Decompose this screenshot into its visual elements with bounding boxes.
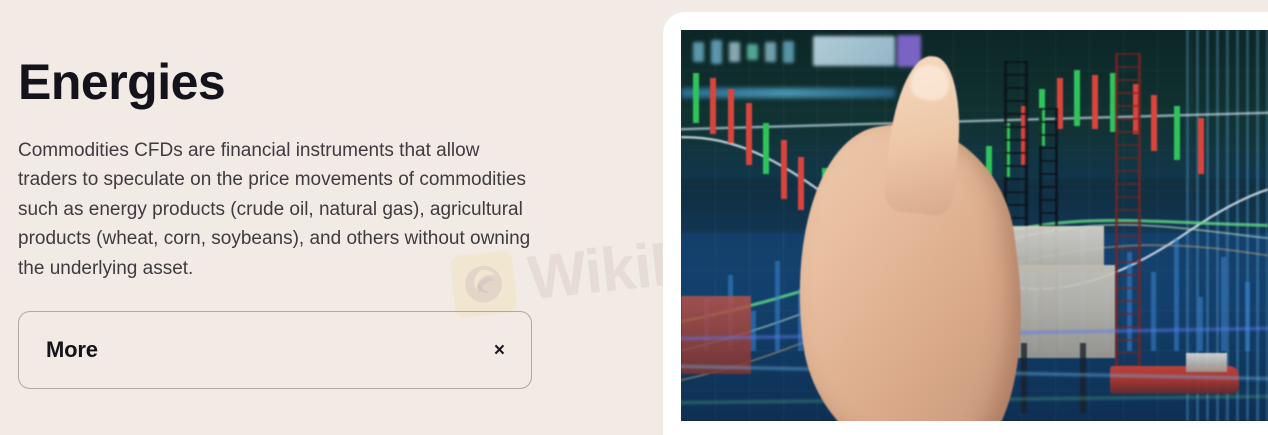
- supply-vessel-cabin: [1186, 353, 1227, 373]
- more-accordion-inner: More ×: [19, 312, 531, 388]
- photo-base: Friday, Feb 19, 2016 GC1 Open: 1,235.01 …: [681, 30, 1268, 421]
- more-accordion-label: More: [46, 337, 98, 363]
- fingernail: [909, 63, 950, 102]
- close-icon[interactable]: ×: [494, 341, 505, 360]
- media-card: Friday, Feb 19, 2016 GC1 Open: 1,235.01 …: [663, 12, 1268, 435]
- secondary-rig: [681, 296, 751, 374]
- section-description: Commodities CFDs are financial instrumen…: [18, 136, 538, 283]
- trading-photo: Friday, Feb 19, 2016 GC1 Open: 1,235.01 …: [681, 30, 1268, 421]
- text-column: Energies Commodities CFDs are financial …: [0, 0, 663, 435]
- platform-leg: [1080, 343, 1086, 413]
- platform-leg: [1021, 343, 1027, 413]
- oil-derrick-rust: [1115, 53, 1141, 366]
- energies-section: Energies Commodities CFDs are financial …: [0, 0, 1268, 435]
- page-title: Energies: [18, 55, 225, 109]
- more-accordion[interactable]: More ×: [18, 311, 532, 389]
